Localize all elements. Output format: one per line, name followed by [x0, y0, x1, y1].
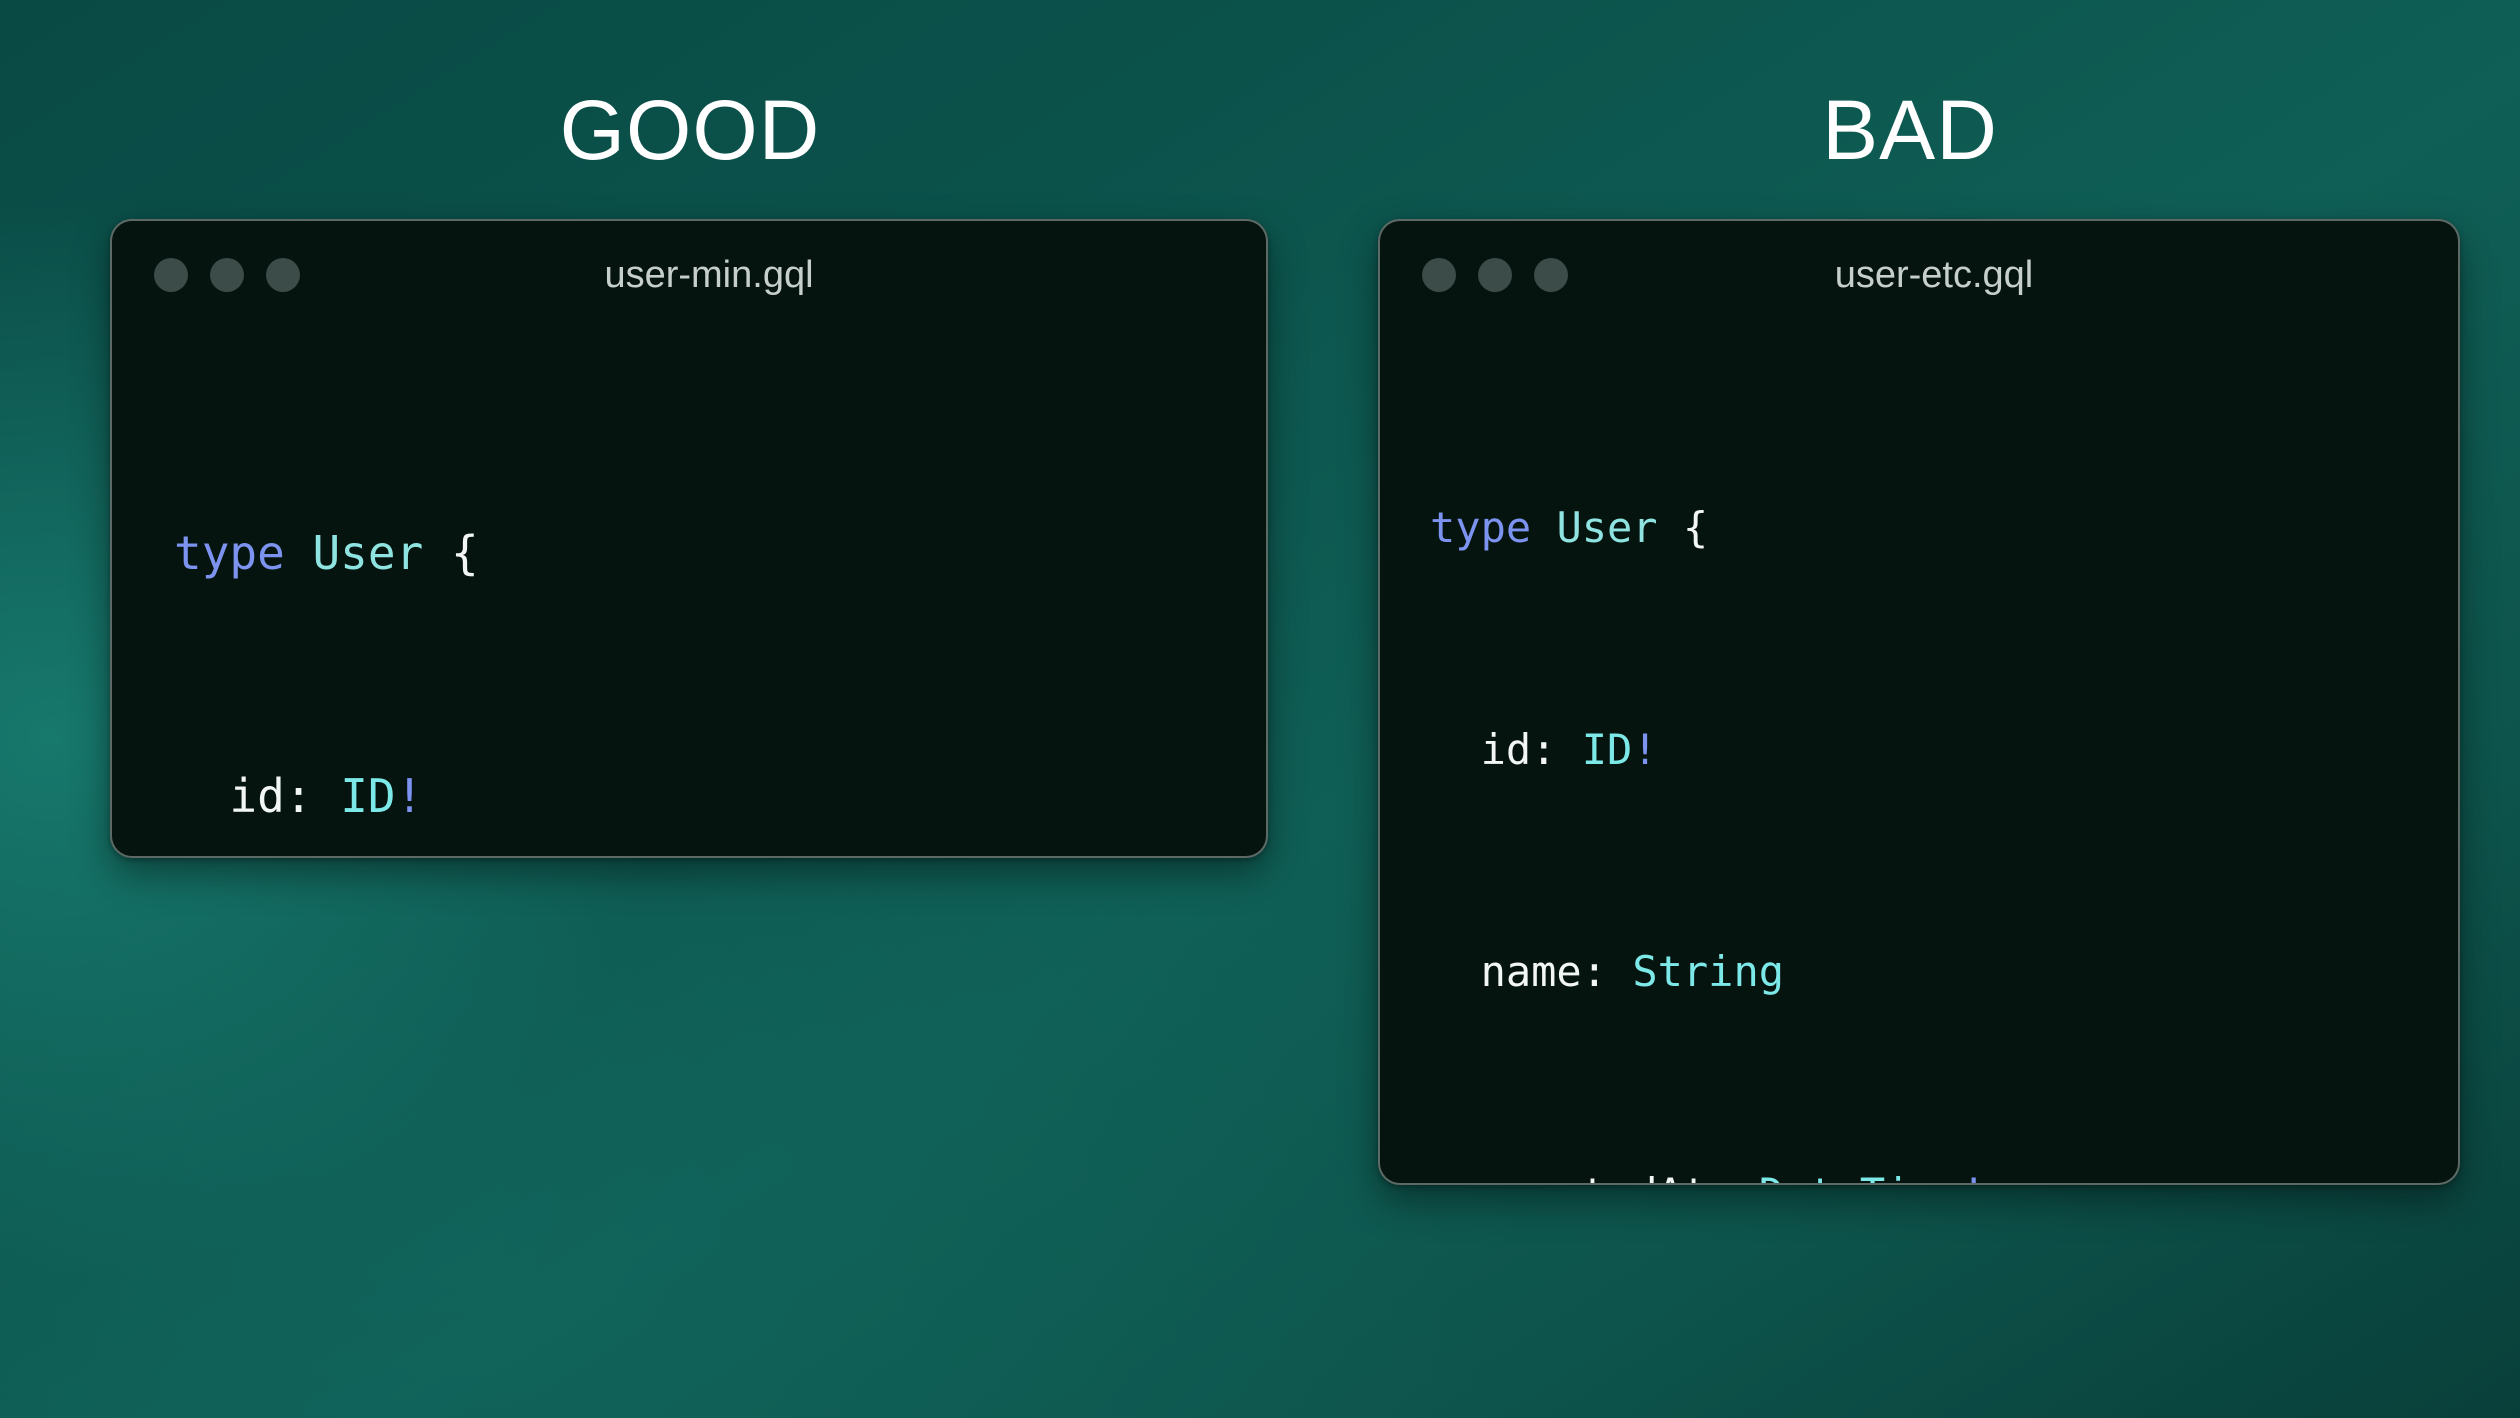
code-block-good: type User { id: ID! name: String created… [112, 329, 1266, 858]
token-field-name: id [1481, 725, 1532, 774]
close-dot-icon[interactable] [154, 258, 188, 292]
code-card-titlebar-good: user-min.gql [112, 221, 1266, 329]
token-brace-open: { [1683, 503, 1708, 552]
maximize-dot-icon[interactable] [1534, 258, 1568, 292]
token-type: ID [340, 769, 395, 823]
minimize-dot-icon[interactable] [1478, 258, 1512, 292]
code-block-bad: type User { id: ID! name: String created… [1380, 329, 2458, 1185]
token-colon: : [1708, 1169, 1733, 1185]
token-nonnull: ! [1961, 1169, 1986, 1185]
token-nonnull: ! [396, 769, 424, 823]
token-colon: : [285, 769, 313, 823]
panel-heading-bad: BAD [1560, 88, 2260, 172]
token-type: ID [1582, 725, 1633, 774]
code-line: id: ID! [1430, 713, 2458, 787]
code-line: type User { [1430, 491, 2458, 565]
token-keyword: type [1430, 503, 1531, 552]
code-line: id: ID! [174, 756, 1266, 837]
code-line: type User { [174, 513, 1266, 594]
token-nonnull: ! [1632, 725, 1657, 774]
token-brace-open: { [451, 526, 479, 580]
window-dots-bad [1422, 258, 1568, 292]
window-dots-good [154, 258, 300, 292]
token-colon: : [1531, 725, 1556, 774]
maximize-dot-icon[interactable] [266, 258, 300, 292]
token-field-name: createdAt [1481, 1169, 1709, 1185]
code-line: name: String [1430, 935, 2458, 1009]
token-type: DateTime [1759, 1169, 1961, 1185]
token-colon: : [1582, 947, 1607, 996]
code-line: createdAt: DateTime! [1430, 1157, 2458, 1185]
minimize-dot-icon[interactable] [210, 258, 244, 292]
code-card-titlebar-bad: user-etc.gql [1380, 221, 2458, 329]
token-keyword: type [174, 526, 285, 580]
close-dot-icon[interactable] [1422, 258, 1456, 292]
token-typename: User [1556, 503, 1657, 552]
token-field-name: id [229, 769, 284, 823]
panel-heading-good: GOOD [340, 88, 1040, 172]
token-field-name: name [1481, 947, 1582, 996]
code-card-bad: user-etc.gql type User { id: ID! name: S… [1378, 219, 2460, 1185]
code-card-good: user-min.gql type User { id: ID! name: S… [110, 219, 1268, 858]
comparison-stage: GOOD BAD user-min.gql type User { id: ID… [0, 0, 2520, 1418]
token-typename: User [312, 526, 423, 580]
token-type: String [1632, 947, 1784, 996]
